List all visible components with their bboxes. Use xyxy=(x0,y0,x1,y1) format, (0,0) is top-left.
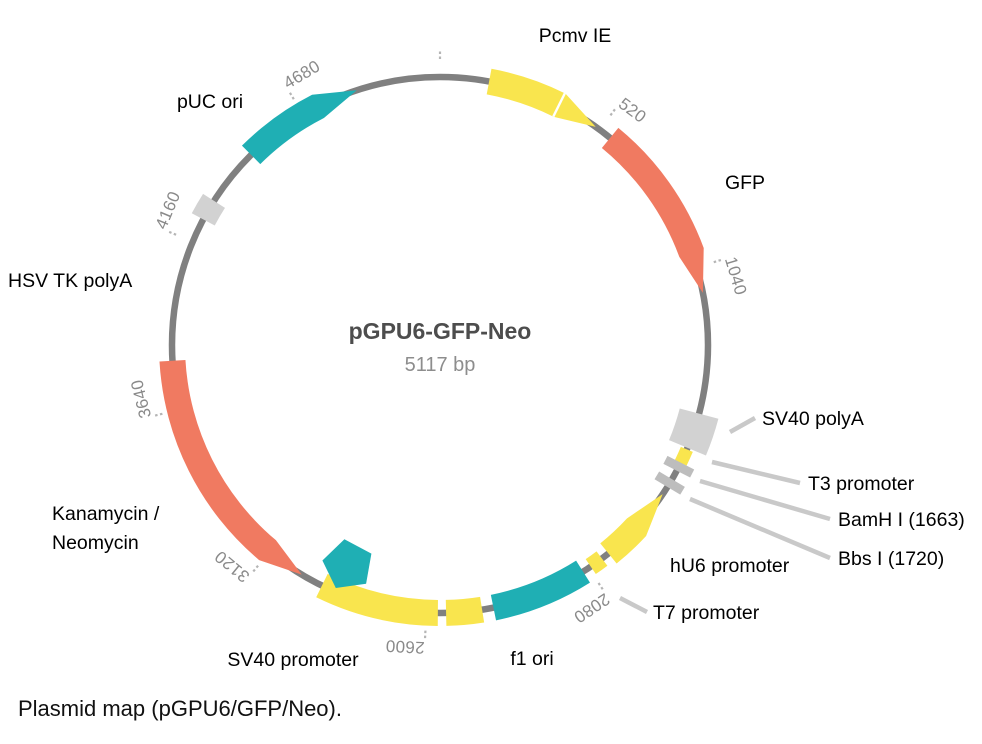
feature-label: T7 promoter xyxy=(653,602,760,624)
feature-label: SV40 polyA xyxy=(762,408,864,430)
tick-label: 2600 xyxy=(385,636,425,657)
feature-sv40-polya[interactable] xyxy=(669,408,718,455)
feature-label: HSV TK polyA xyxy=(8,270,132,292)
plasmid-map-canvas: 5201040208026003120364041604680 Pcmv IEG… xyxy=(0,0,982,744)
leader-line xyxy=(690,499,830,558)
feature-pcmv-ie[interactable] xyxy=(487,69,596,127)
feature-label: SV40 promoter xyxy=(227,649,359,671)
feature-hsv-tk-polya[interactable] xyxy=(192,194,225,226)
leader-line xyxy=(620,598,647,612)
tick-label: 3640 xyxy=(127,378,155,420)
feature-hu6-promoter[interactable] xyxy=(600,494,662,563)
feature-label-layer: Pcmv IEGFPSV40 polyAT3 promoterBamH I (1… xyxy=(8,25,965,671)
tick-label: 4160 xyxy=(152,189,185,232)
feature-label: Pcmv IE xyxy=(539,25,612,47)
feature-kanamycin-neomycin[interactable] xyxy=(159,360,301,575)
feature-layer xyxy=(159,69,718,626)
feature-label-line2: Neomycin xyxy=(52,532,139,554)
center-text-layer: pGPU6-GFP-Neo5117 bp xyxy=(349,318,532,376)
feature-label: T3 promoter xyxy=(808,473,915,495)
feature-gfp[interactable] xyxy=(602,128,704,293)
plasmid-name: pGPU6-GFP-Neo xyxy=(349,318,532,344)
tick-label: 520 xyxy=(615,94,650,127)
leader-line xyxy=(730,418,755,432)
leader-line xyxy=(712,462,800,483)
figure-caption: Plasmid map (pGPU6/GFP/Neo). xyxy=(18,696,342,722)
feature-label: Kanamycin / xyxy=(52,503,160,525)
feature-label: Bbs I (1720) xyxy=(838,548,944,570)
feature-label: BamH I (1663) xyxy=(838,509,965,531)
tick-label: 4680 xyxy=(280,56,323,92)
tick-label: 1040 xyxy=(721,255,750,298)
tick-label: 3120 xyxy=(211,547,253,586)
feature-label: GFP xyxy=(725,172,765,194)
plasmid-size: 5117 bp xyxy=(405,354,476,376)
feature-label: f1 ori xyxy=(510,648,553,670)
feature-label: pUC ori xyxy=(177,91,243,113)
feature-label: hU6 promoter xyxy=(670,555,790,577)
feature-small-ccw-arrow[interactable] xyxy=(446,597,484,626)
plasmid-map-svg: 5201040208026003120364041604680 Pcmv IEG… xyxy=(0,0,982,700)
feature-puc-ori[interactable] xyxy=(242,90,357,164)
tick-label: 2080 xyxy=(570,589,613,626)
